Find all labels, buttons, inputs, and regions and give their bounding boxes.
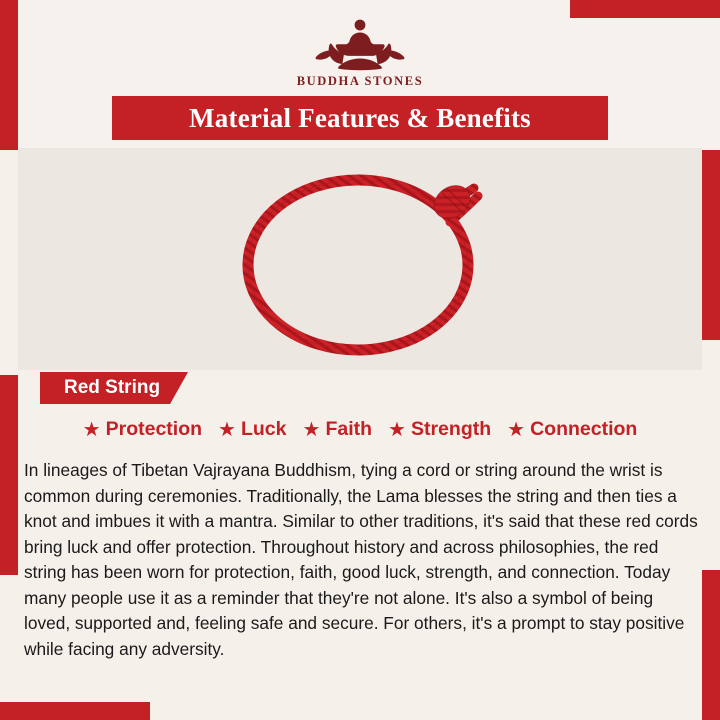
benefit-item: ★ Faith bbox=[296, 418, 380, 441]
infographic-page: BUDDHA STONES Material Features & Benefi… bbox=[0, 0, 720, 720]
benefit-label: Protection bbox=[106, 418, 202, 441]
benefit-item: ★ Protection bbox=[76, 418, 209, 441]
frame-accent-right-mid bbox=[702, 150, 720, 340]
benefit-label: Faith bbox=[325, 418, 372, 441]
benefit-item: ★ Luck bbox=[211, 418, 293, 441]
star-icon: ★ bbox=[303, 420, 321, 440]
product-image-area bbox=[18, 148, 702, 370]
benefit-label: Strength bbox=[411, 418, 491, 441]
frame-accent-bottom-left bbox=[0, 702, 150, 720]
star-icon: ★ bbox=[218, 420, 236, 440]
brand-logo: BUDDHA STONES bbox=[0, 14, 720, 89]
frame-accent-left-mid bbox=[0, 375, 18, 575]
star-icon: ★ bbox=[388, 420, 406, 440]
star-icon: ★ bbox=[83, 420, 101, 440]
benefit-item: ★ Connection bbox=[500, 418, 644, 441]
star-icon: ★ bbox=[507, 420, 525, 440]
page-title: Material Features & Benefits bbox=[189, 103, 531, 134]
benefit-label: Luck bbox=[241, 418, 287, 441]
benefit-label: Connection bbox=[530, 418, 637, 441]
description-text: In lineages of Tibetan Vajrayana Buddhis… bbox=[24, 458, 702, 662]
brand-name: BUDDHA STONES bbox=[0, 74, 720, 89]
frame-accent-right-bottom bbox=[702, 570, 720, 720]
benefits-list: ★ Protection ★ Luck ★ Faith ★ Strength ★… bbox=[18, 418, 702, 441]
lotus-meditation-icon bbox=[300, 14, 420, 72]
section-title-bar: Material Features & Benefits bbox=[112, 96, 608, 140]
product-name-ribbon: Red String bbox=[40, 372, 188, 404]
benefit-item: ★ Strength bbox=[381, 418, 498, 441]
product-name-label: Red String bbox=[64, 377, 160, 399]
red-string-bracelet-image bbox=[210, 162, 510, 362]
